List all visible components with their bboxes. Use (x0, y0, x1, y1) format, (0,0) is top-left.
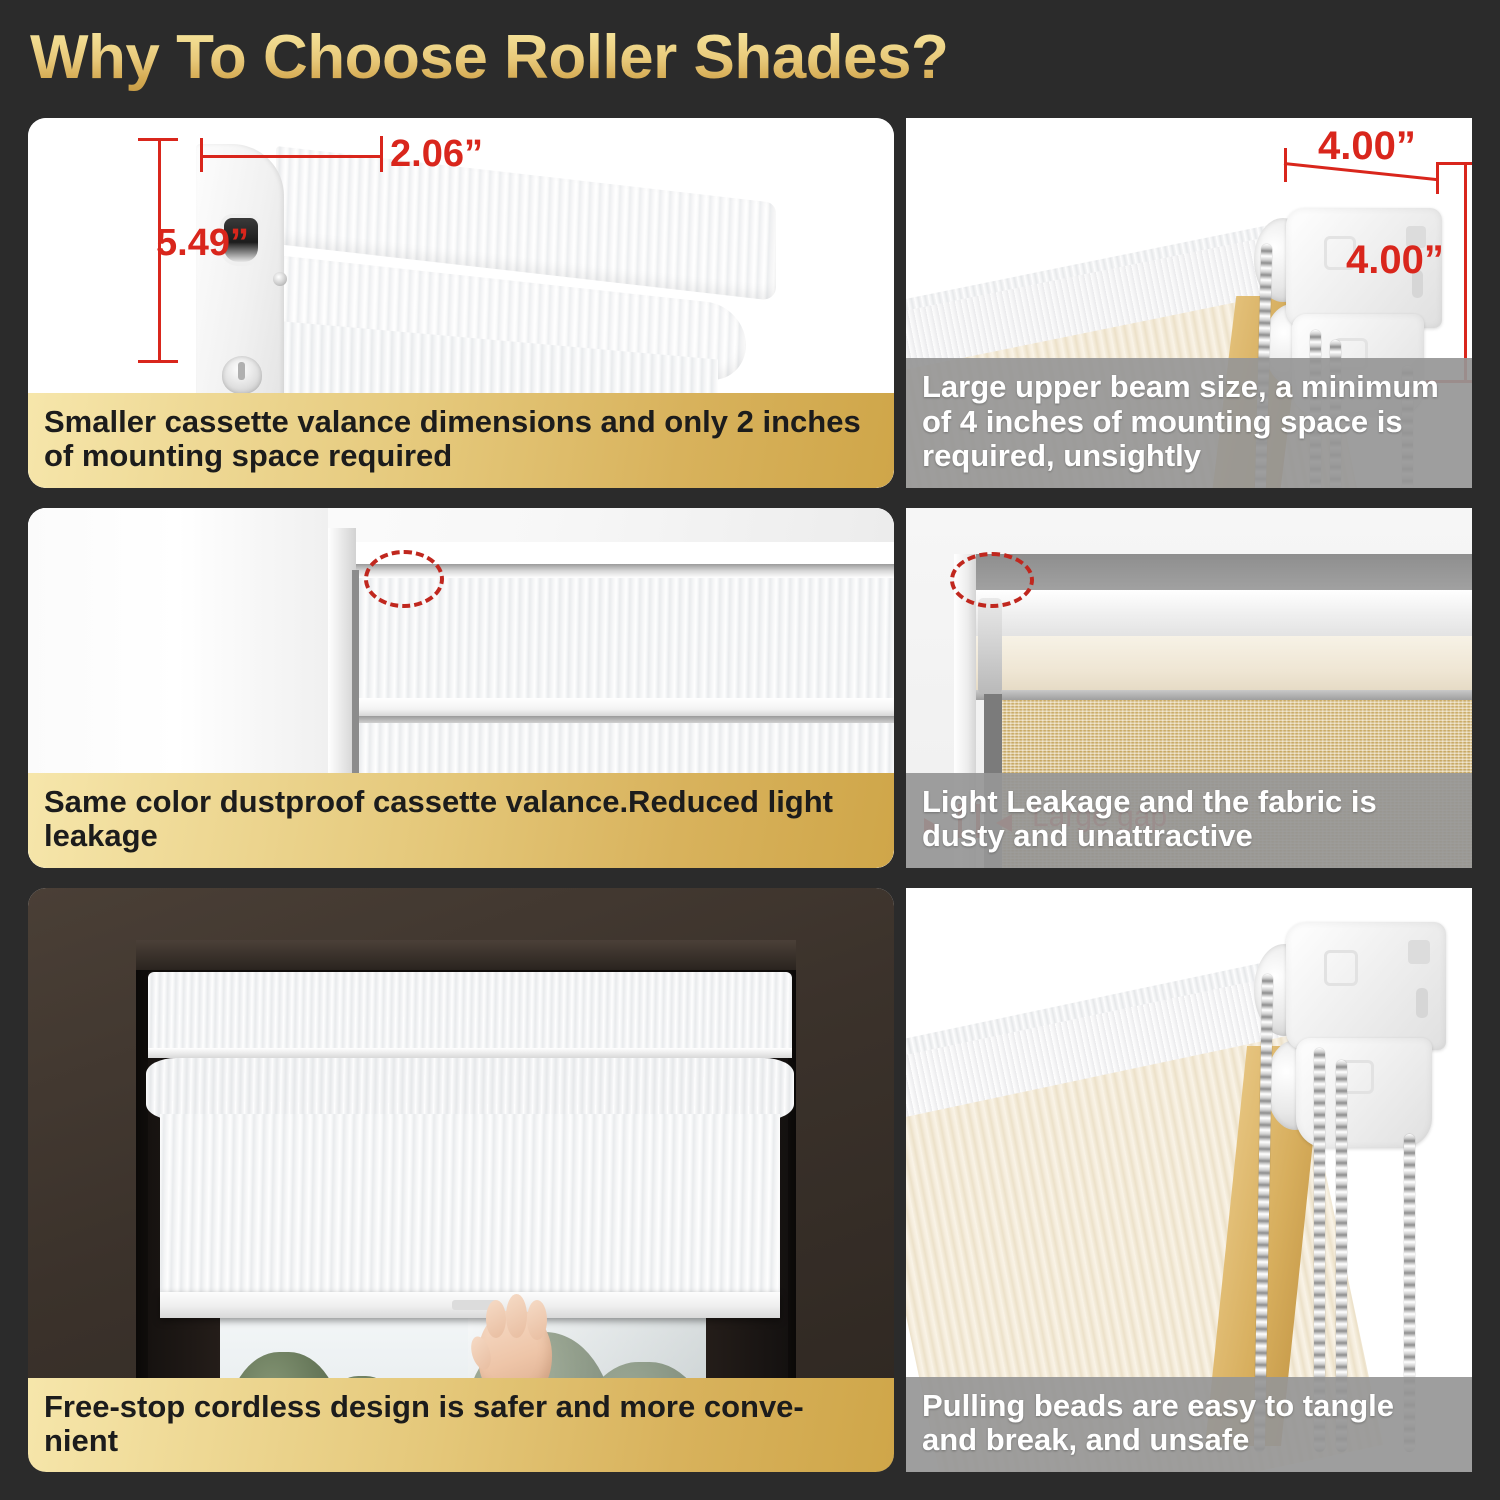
height-dim-tick-bottom (138, 360, 178, 363)
panel-5-caption: Free-stop cordless design is safer and m… (28, 1378, 894, 1472)
panel-5-caption-line1: Free-stop cordless design is safer and m… (44, 1389, 804, 1424)
end-cap-screw (273, 272, 287, 286)
bracket-icon-1 (1324, 950, 1358, 986)
highlight-ellipse (950, 552, 1034, 608)
end-cap-knob-pin (238, 362, 245, 380)
width-dimension-label: 2.06” (390, 133, 483, 176)
beam-width-label: 4.00” (1318, 124, 1416, 169)
panel-1-caption: Smaller cassette valance dimensions and … (28, 393, 894, 488)
panel-6-caption: Pulling beads are easy to tangle and bre… (906, 1377, 1472, 1472)
valance-ledge (356, 698, 894, 718)
height-dimension-label: 5.49” (156, 222, 249, 265)
panel-2-caption: Large upper beam size, a minimum of 4 in… (906, 358, 1472, 488)
panel-4-caption: Light Leakage and the fabric is dusty an… (906, 773, 1472, 868)
panel-large-beam: 4.00” 4.00” Large upper beam size, a min… (906, 118, 1472, 488)
valance-ledge-shadow (356, 716, 894, 723)
panel-smaller-gap: smaller gap Same color dustproof cassett… (28, 508, 894, 868)
cassette-head (148, 972, 792, 1054)
cassette-roll (146, 1058, 794, 1120)
bracket-notch-2 (1416, 988, 1428, 1018)
valance-bottom-edge (972, 690, 1472, 700)
beam-height-label: 4.00” (1346, 238, 1444, 283)
finger-1 (486, 1300, 506, 1338)
cream-valance (972, 636, 1472, 694)
finger-3 (527, 1300, 547, 1340)
panel-cordless-design: Free-stop cordless design is safer and m… (28, 888, 894, 1472)
valance-fabric-upper (356, 578, 894, 703)
window-recess-top-shadow (136, 940, 796, 970)
width-dim-tick-right (380, 136, 383, 172)
beam-height-line (1464, 162, 1467, 382)
width-dim-line (200, 155, 382, 158)
finger-2 (506, 1294, 527, 1338)
panel-large-gap: Large gap Light Leakage and the fabric i… (906, 508, 1472, 868)
panel-pulling-beads: Pulling beads are easy to tangle and bre… (906, 888, 1472, 1472)
bracket-notch-1 (1408, 940, 1430, 964)
infographic-root: Why To Choose Roller Shades? 2.06” (0, 0, 1500, 1500)
beam-width-tick-right (1436, 162, 1439, 194)
highlight-ellipse (364, 550, 444, 608)
panel-smaller-cassette: 2.06” 5.49” Smaller cassette valance dim… (28, 118, 894, 488)
page-title: Why To Choose Roller Shades? (30, 22, 1090, 94)
roller-shade-fabric (160, 1114, 780, 1308)
panel-3-caption: Same color dustproof cassette valance.Re… (28, 773, 894, 868)
panel-5-caption-line2: nient (44, 1423, 118, 1458)
cassette-head-lip (148, 1048, 792, 1058)
side-bracket-clip (978, 598, 1002, 694)
